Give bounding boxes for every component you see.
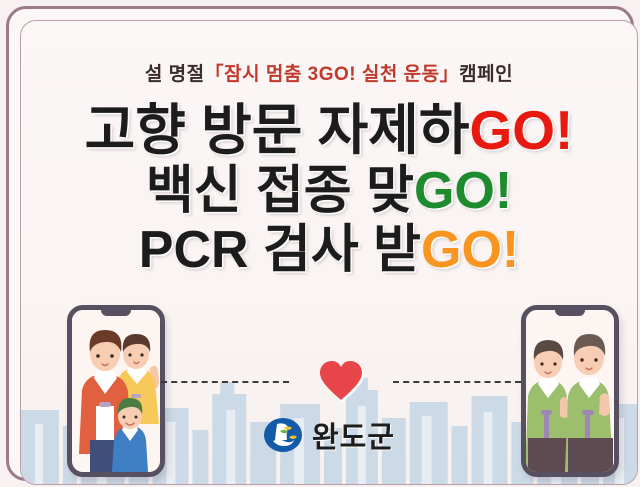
slogan-3-korean: PCR 검사 받: [139, 221, 421, 279]
poster-inner-frame: 설 명절「잠시 멈춤 3GO! 실천 운동」캠페인 고향 방문 자제하GO! 백…: [20, 20, 638, 485]
header-bracket-close: 」: [440, 64, 460, 85]
header-suffix: 캠페인: [459, 64, 513, 85]
wando-county-label: 완도군: [312, 414, 395, 456]
dashed-line-right: [393, 381, 521, 383]
heart-icon: [318, 358, 364, 404]
header-prefix: 설 명절: [145, 64, 205, 85]
campaign-poster: 설 명절「잠시 멈춤 3GO! 실천 운동」캠페인 고향 방문 자제하GO! 백…: [0, 0, 640, 487]
slogan-2-korean: 백신 접종 맞: [146, 162, 414, 220]
slogan-line-1: 고향 방문 자제하GO!: [21, 103, 637, 158]
dashed-line-left: [161, 381, 289, 383]
footer-logo: 완도군: [21, 414, 637, 456]
slogan-line-2: 백신 접종 맞GO!: [21, 165, 637, 217]
phone-notch-left: [101, 309, 131, 316]
slogan-3-go: GO!: [421, 221, 519, 279]
slogan-2-go: GO!: [414, 162, 512, 220]
header-bracket-open: 「: [205, 64, 225, 85]
poster-outer-frame: 설 명절「잠시 멈춤 3GO! 실천 운동」캠페인 고향 방문 자제하GO! 백…: [6, 6, 634, 481]
slogan-block: 고향 방문 자제하GO! 백신 접종 맞GO! PCR 검사 받GO!: [21, 103, 637, 283]
campaign-header: 설 명절「잠시 멈춤 3GO! 실천 운동」캠페인: [21, 59, 637, 86]
wando-county-emblem-icon: [263, 415, 303, 455]
slogan-1-korean: 고향 방문 자제하: [85, 99, 470, 161]
slogan-1-go: GO!: [469, 99, 573, 161]
slogan-line-3: PCR 검사 받GO!: [21, 224, 637, 276]
phone-notch-right: [555, 309, 585, 316]
header-emphasis: 잠시 멈춤 3GO! 실천 운동: [224, 64, 439, 85]
connection-indicator: [161, 361, 521, 411]
